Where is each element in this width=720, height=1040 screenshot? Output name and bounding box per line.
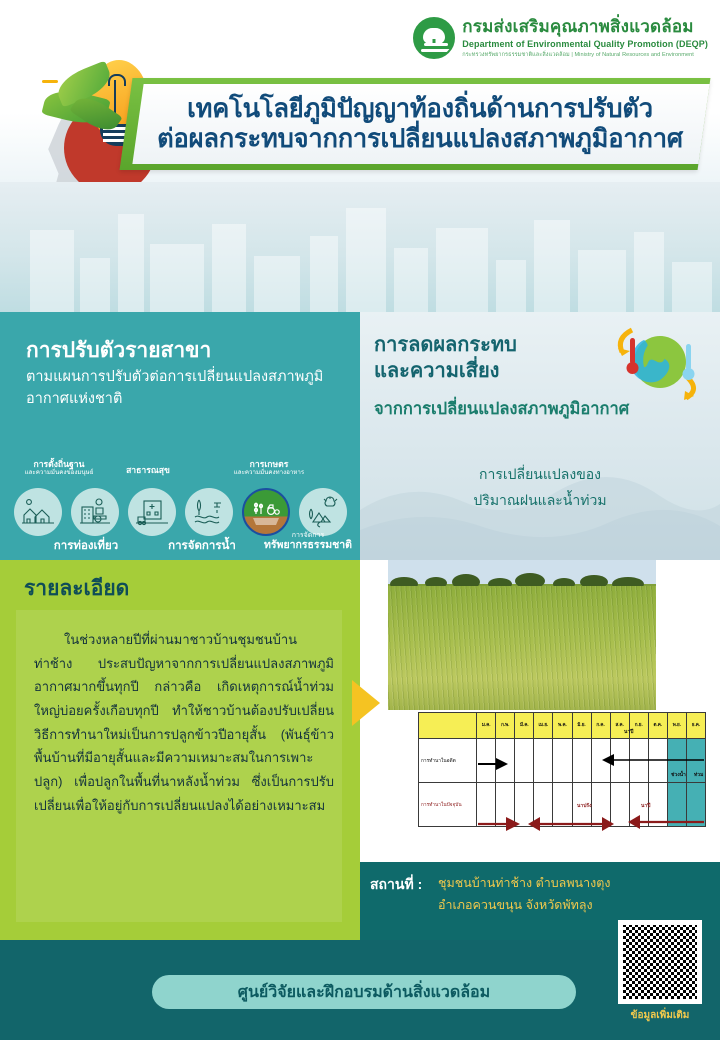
sector-panel-heading: การปรับตัวรายสาขา bbox=[26, 334, 211, 367]
sector-icon-natural-resources[interactable] bbox=[299, 488, 347, 536]
org-name-en: Department of Environmental Quality Prom… bbox=[462, 39, 708, 49]
impact-heading-line1: การลดผลกระทบ bbox=[374, 332, 517, 358]
poster-root: กรมส่งเสริมคุณภาพสิ่งแวดล้อม Department … bbox=[0, 0, 720, 1040]
organization-text: กรมส่งเสริมคุณภาพสิ่งแวดล้อม Department … bbox=[462, 17, 708, 59]
sector-label-text: ทรัพยากรธรรมชาติ bbox=[260, 540, 356, 552]
qr-caption: ข้อมูลเพิ่มเติม bbox=[612, 1008, 708, 1023]
sector-icon-tourism[interactable] bbox=[71, 488, 119, 536]
sector-icon-row: การตั้งถิ่นฐาน และความมั่นคงของมนุษย์ สา… bbox=[8, 462, 356, 554]
impact-reduction-panel: การลดผลกระทบ และความเสี่ยง จากการเปลี่ยน… bbox=[360, 312, 720, 560]
annotation-present-naapee: นาปี bbox=[641, 802, 650, 810]
sector-adaptation-panel: การปรับตัวรายสาขา ตามแผนการปรับตัวต่อการ… bbox=[0, 312, 360, 560]
arrow-past-naapee bbox=[602, 754, 704, 766]
annotation-past-naapee: นาปี bbox=[624, 728, 633, 736]
impact-panel-detail: การเปลี่ยนแปลงของ ปริมาณฝนและน้ำท่วม bbox=[360, 462, 720, 514]
rice-grass-texture bbox=[388, 586, 656, 710]
location-value: ชุมชนบ้านท่าช้าง ตำบลพนางตุง อำเภอควนขนุ… bbox=[438, 873, 668, 917]
impact-heading-line2: และความเสี่ยง bbox=[374, 358, 517, 384]
location-line1: ชุมชนบ้านท่าช้าง ตำบลพนางตุง bbox=[438, 873, 668, 895]
flood-label-part2: ท่วม bbox=[694, 771, 703, 779]
location-line2: อำเภอควนขนุน จังหวัดพัทลุง bbox=[438, 895, 668, 917]
page-title-line2: ต่อผลกระทบจากการเปลี่ยนแปลงสภาพภูมิอากาศ bbox=[157, 125, 683, 155]
technology-name-band: ชื่อเทคโนโลยี : การพัฒนาการปลูกข้าวพื้นบ… bbox=[0, 182, 720, 312]
impact-panel-heading: การลดผลกระทบ และความเสี่ยง bbox=[374, 332, 517, 384]
impact-panel-subheading: จากการเปลี่ยนแปลงสภาพภูมิอากาศ bbox=[374, 396, 629, 422]
sector-icon-health[interactable] bbox=[128, 488, 176, 536]
qr-code-box[interactable] bbox=[618, 920, 702, 1004]
sector-panel-subheading: ตามแผนการปรับตัวต่อการเปลี่ยนแปลงสภาพภูม… bbox=[26, 366, 338, 411]
yellow-arrow-icon bbox=[352, 680, 380, 726]
sector-label-settlement: การตั้งถิ่นฐาน และความมั่นคงของมนุษย์ bbox=[4, 460, 114, 477]
sector-label-text: สาธารณสุข bbox=[102, 466, 194, 476]
city-travel-icon bbox=[78, 495, 112, 529]
calendar-arrow-overlay bbox=[418, 712, 706, 844]
impact-detail-line2: ปริมาณฝนและน้ำท่วม bbox=[360, 488, 720, 514]
sector-icon-water[interactable] bbox=[185, 488, 233, 536]
spark-icon bbox=[42, 80, 58, 83]
location-label: สถานที่ : bbox=[370, 874, 422, 896]
flood-label-part1: ช่วงน้ำ bbox=[671, 771, 686, 779]
city-skyline-icon bbox=[0, 200, 720, 312]
impact-detail-line1: การเปลี่ยนแปลงของ bbox=[360, 462, 720, 488]
details-heading: รายละเอียด bbox=[24, 572, 129, 605]
organization-logo-block: กรมส่งเสริมคุณภาพสิ่งแวดล้อม Department … bbox=[413, 17, 708, 59]
sector-label-health: สาธารณสุข bbox=[102, 466, 194, 476]
rice-field-photo bbox=[388, 560, 656, 710]
sector-label-text: การจัดการน้ำ bbox=[156, 540, 248, 553]
arrow-present-naaprang bbox=[528, 817, 614, 831]
rice-tractor-icon bbox=[249, 495, 283, 529]
header: กรมส่งเสริมคุณภาพสิ่งแวดล้อม Department … bbox=[0, 0, 720, 182]
research-center-pill: ศูนย์วิจัยและฝึกอบรมด้านสิ่งแวดล้อม bbox=[152, 975, 576, 1009]
details-body-text: ในช่วงหลายปีที่ผ่านมาชาวบ้านชุมชนบ้านท่า… bbox=[34, 628, 334, 817]
river-faucet-icon bbox=[192, 495, 226, 529]
sector-label-tourism: การท่องเที่ยว bbox=[40, 540, 132, 553]
qr-code-icon bbox=[623, 925, 697, 999]
ministry-name: กระทรวงทรัพยากรธรรมชาติและสิ่งแวดล้อม | … bbox=[462, 51, 708, 59]
village-houses-icon bbox=[21, 495, 55, 529]
details-body-box: ในช่วงหลายปีที่ผ่านมาชาวบ้านชุมชนบ้านท่า… bbox=[16, 610, 342, 922]
sector-label-text: การท่องเที่ยว bbox=[40, 540, 132, 553]
hospital-ambulance-icon bbox=[135, 495, 169, 529]
page-title-line1: เทคโนโลยีภูมิปัญญาท้องถิ่นด้านการปรับตัว bbox=[187, 95, 653, 125]
annotation-present-naaprang: นาปรัง bbox=[577, 802, 592, 810]
sector-label-natural-resources: การจัดการ ทรัพยากรธรรมชาติ bbox=[260, 532, 356, 552]
sector-sublabel-text: และความมั่นคงทางอาหาร bbox=[214, 470, 324, 477]
arrow-past-early bbox=[478, 758, 508, 770]
footer: ศูนย์วิจัยและฝึกอบรมด้านสิ่งแวดล้อม bbox=[0, 940, 720, 1040]
sector-icon-settlement[interactable] bbox=[14, 488, 62, 536]
org-name-th: กรมส่งเสริมคุณภาพสิ่งแวดล้อม bbox=[462, 18, 708, 37]
sector-icon-agriculture[interactable] bbox=[242, 488, 290, 536]
sector-sublabel-text: และความมั่นคงของมนุษย์ bbox=[4, 470, 114, 477]
arrow-present-early bbox=[478, 817, 520, 831]
arrow-present-naapee bbox=[628, 815, 704, 829]
tree-water-circle-icon bbox=[413, 17, 455, 59]
mountain-forest-icon bbox=[306, 495, 340, 529]
sector-label-agriculture: การเกษตร และความมั่นคงทางอาหาร bbox=[214, 460, 324, 477]
sector-label-water: การจัดการน้ำ bbox=[156, 540, 248, 553]
page-title: เทคโนโลยีภูมิปัญญาท้องถิ่นด้านการปรับตัว… bbox=[140, 86, 700, 164]
globe-thermometer-icon bbox=[610, 322, 702, 404]
details-panel: รายละเอียด ในช่วงหลายปีที่ผ่านมาชาวบ้านช… bbox=[0, 560, 360, 940]
